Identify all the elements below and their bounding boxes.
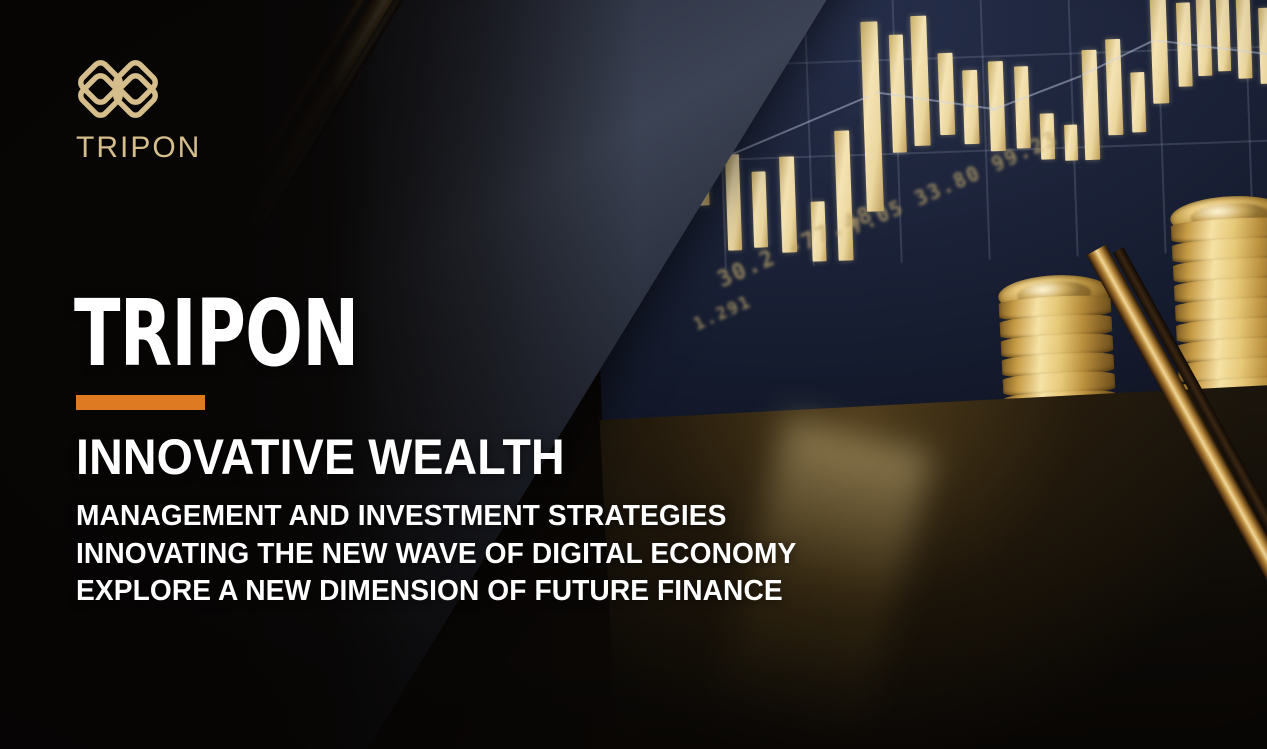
tagline-list: MANAGEMENT AND INVESTMENT STRATEGIES INN… — [76, 498, 796, 611]
promo-banner: 30.2 -77.48 7.05 33.80 99.23 1.291 — [0, 0, 1267, 749]
tagline-item: INNOVATING THE NEW WAVE OF DIGITAL ECONO… — [76, 536, 796, 574]
page-title: TRIPON — [74, 294, 359, 373]
brand-lockup[interactable]: TRIPON — [76, 58, 201, 163]
brand-wordmark: TRIPON — [76, 133, 201, 163]
subheadline: INNOVATIVE WEALTH — [76, 430, 565, 484]
accent-divider-bar — [76, 395, 205, 410]
content-layer: TRIPON TRIPON INNOVATIVE WEALTH MANAGEME… — [0, 0, 1267, 749]
tagline-item: MANAGEMENT AND INVESTMENT STRATEGIES — [76, 498, 796, 536]
tagline-item: EXPLORE A NEW DIMENSION OF FUTURE FINANC… — [76, 573, 796, 611]
interlocking-diamonds-logo-icon — [76, 58, 201, 125]
